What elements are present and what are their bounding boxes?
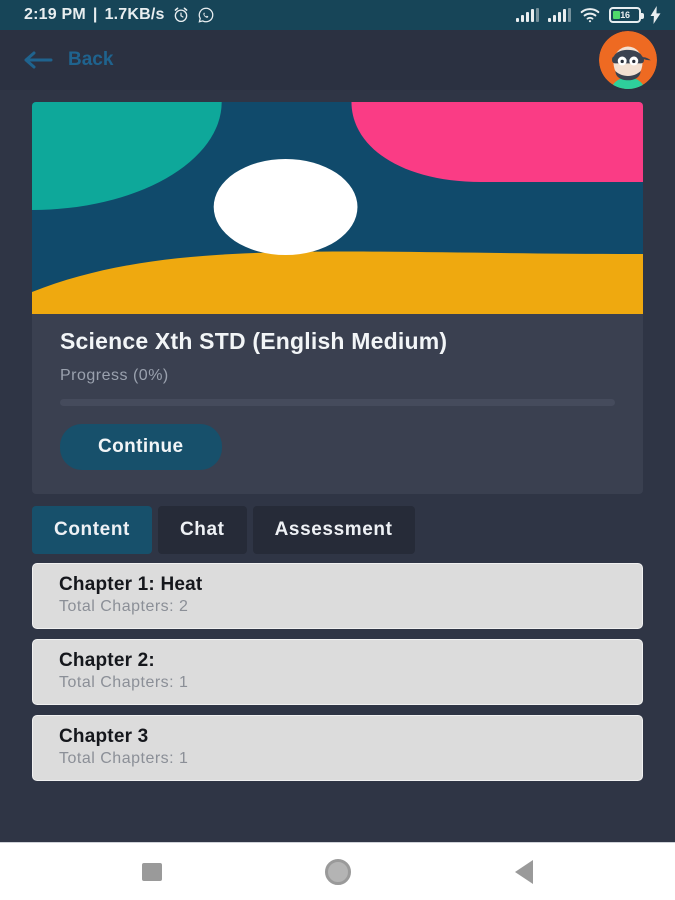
list-item[interactable]: Chapter 2: Total Chapters: 1 bbox=[32, 639, 643, 705]
status-network-speed: 1.7KB/s bbox=[105, 6, 165, 24]
android-nav-bar bbox=[0, 842, 675, 900]
chapter-subtitle: Total Chapters: 1 bbox=[59, 674, 616, 692]
status-bar-left: 2:19 PM | 1.7KB/s bbox=[24, 6, 215, 24]
cellular-signal-icon-2 bbox=[548, 8, 571, 22]
chapter-title: Chapter 1: Heat bbox=[59, 574, 616, 596]
course-card[interactable]: Science Xth STD (English Medium) Progres… bbox=[32, 102, 643, 494]
square-recents-icon[interactable] bbox=[142, 863, 162, 881]
charging-bolt-icon bbox=[650, 6, 661, 24]
course-banner-image bbox=[32, 102, 643, 314]
circle-home-icon[interactable] bbox=[325, 859, 351, 885]
status-separator: | bbox=[93, 6, 98, 24]
chapter-list: Chapter 1: Heat Total Chapters: 2 Chapte… bbox=[32, 563, 643, 781]
tab-assessment[interactable]: Assessment bbox=[253, 506, 415, 554]
tab-chat[interactable]: Chat bbox=[158, 506, 247, 554]
avatar[interactable] bbox=[599, 31, 657, 89]
wifi-icon bbox=[580, 7, 600, 23]
status-bar: 2:19 PM | 1.7KB/s 16 bbox=[0, 0, 675, 30]
list-item[interactable]: Chapter 1: Heat Total Chapters: 2 bbox=[32, 563, 643, 629]
chapter-title: Chapter 3 bbox=[59, 726, 616, 748]
app-header: Back bbox=[0, 30, 675, 90]
status-time: 2:19 PM bbox=[24, 6, 86, 24]
list-item[interactable]: Chapter 3 Total Chapters: 1 bbox=[32, 715, 643, 781]
tab-content[interactable]: Content bbox=[32, 506, 152, 554]
progress-label: Progress (0%) bbox=[60, 367, 615, 385]
back-button-label: Back bbox=[68, 49, 113, 71]
arrow-left-icon bbox=[24, 50, 54, 70]
alarm-clock-icon bbox=[172, 6, 190, 24]
cellular-signal-icon-1 bbox=[516, 8, 539, 22]
course-details: Science Xth STD (English Medium) Progres… bbox=[32, 314, 643, 494]
battery-icon: 16 bbox=[609, 7, 641, 23]
progress-bar bbox=[60, 399, 615, 406]
battery-level: 16 bbox=[611, 10, 639, 20]
chapter-title: Chapter 2: bbox=[59, 650, 616, 672]
whatsapp-icon bbox=[197, 6, 215, 24]
status-bar-right: 16 bbox=[516, 6, 661, 24]
chapter-subtitle: Total Chapters: 1 bbox=[59, 750, 616, 768]
ninja-avatar bbox=[599, 31, 657, 89]
course-title: Science Xth STD (English Medium) bbox=[60, 328, 615, 355]
continue-button[interactable]: Continue bbox=[60, 424, 222, 470]
back-button[interactable]: Back bbox=[24, 49, 113, 71]
page-content: Science Xth STD (English Medium) Progres… bbox=[0, 90, 675, 900]
chapter-subtitle: Total Chapters: 2 bbox=[59, 598, 616, 616]
tab-bar: Content Chat Assessment bbox=[32, 506, 643, 554]
triangle-back-icon[interactable] bbox=[515, 860, 533, 884]
